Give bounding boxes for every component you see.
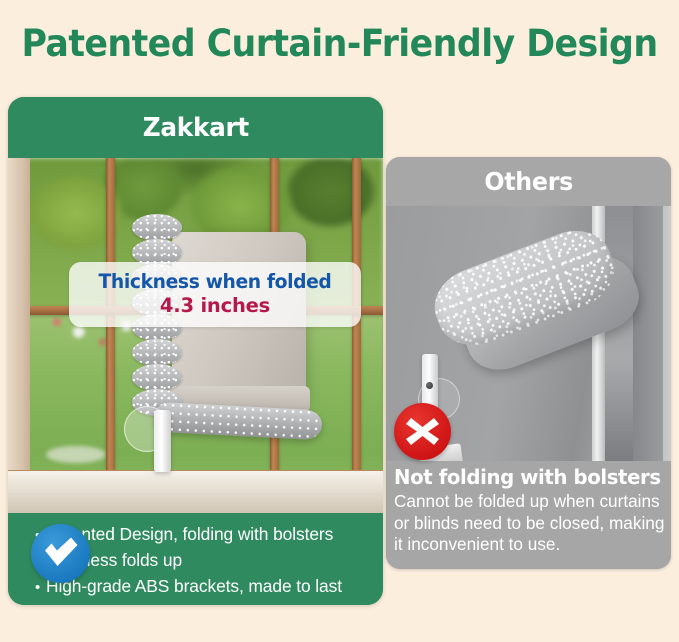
window-mullion-vertical-3: [352, 158, 361, 513]
bolster-roll: [132, 364, 182, 391]
x-circle-icon: [394, 403, 451, 460]
zakkart-header-label: Zakkart: [142, 113, 248, 143]
callout-measurement-text: 4.3 inches: [79, 294, 351, 317]
window-sill: [8, 471, 383, 513]
callout-primary-text: Thickness when folded: [84, 270, 345, 293]
window-mullion-vertical-1: [106, 158, 115, 513]
others-headline: Not folding with bolsters: [394, 465, 655, 489]
check-circle-icon: [31, 524, 90, 583]
bracket-screw: [426, 382, 433, 389]
page-title: Patented Curtain-Friendly Design: [20, 22, 658, 65]
others-panel-header: Others: [386, 157, 671, 206]
thickness-callout: Thickness when folded 4.3 inches: [69, 262, 361, 327]
zakkart-comparison-panel: Zakkart: [8, 97, 383, 605]
others-description: Cannot be folded up when curtains or bli…: [394, 491, 670, 556]
window-jamb-left: [8, 158, 30, 513]
right-wall: [663, 206, 671, 461]
feature-label: High-grade ABS brackets, made to last: [46, 576, 342, 597]
others-header-label: Others: [484, 167, 573, 196]
zakkart-panel-header: Zakkart: [8, 97, 383, 158]
others-comparison-panel: Others Not folding with bolsters Cannot …: [386, 157, 671, 569]
bolster-roll: [132, 339, 182, 366]
zakkart-product-photo: [8, 158, 383, 513]
zakkart-pet-bed: [126, 210, 338, 448]
garden-stone: [46, 446, 106, 464]
bolster-roll: [132, 214, 182, 241]
mount-bracket: [154, 410, 171, 472]
